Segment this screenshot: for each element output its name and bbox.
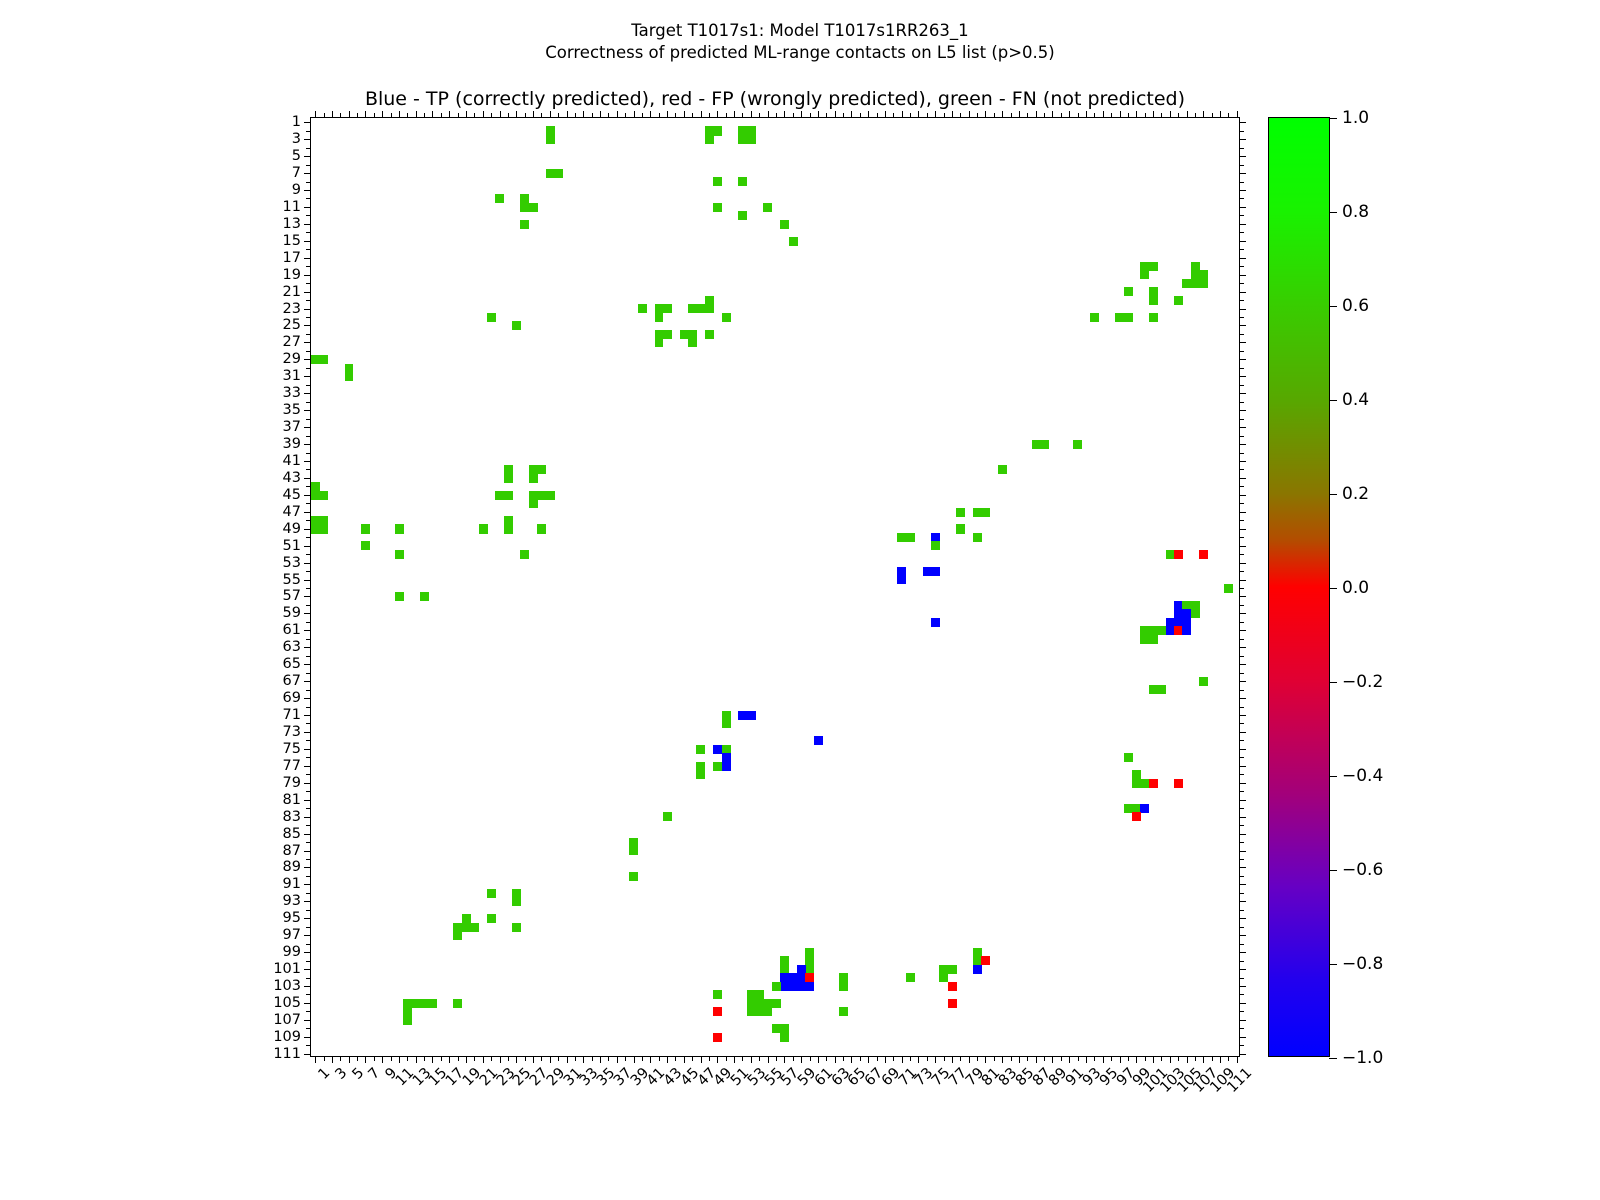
- x-tick-top: [818, 111, 819, 118]
- y-tick-right: [1239, 639, 1244, 640]
- x-tick-bottom: [357, 1056, 358, 1061]
- legend-subtitle: Blue - TP (correctly predicted), red - F…: [310, 88, 1240, 110]
- x-tick-bottom: [675, 1056, 676, 1061]
- y-tick-right: [1239, 453, 1244, 454]
- y-tick-right: [1239, 283, 1244, 284]
- y-tick: [306, 571, 311, 572]
- contact-cell: [789, 237, 798, 246]
- y-tick-right: [1239, 664, 1246, 665]
- y-tick: [306, 198, 311, 199]
- x-tick-top: [550, 111, 551, 118]
- y-tick: [304, 309, 311, 310]
- y-tick-label: 41: [283, 453, 301, 469]
- y-tick: [304, 1054, 311, 1055]
- y-tick-label: 29: [283, 351, 301, 367]
- x-tick-label: 3: [332, 1065, 350, 1083]
- y-tick-label: 65: [283, 656, 301, 672]
- x-tick-top: [1019, 111, 1020, 118]
- contact-cell: [546, 135, 555, 144]
- x-tick-bottom: [776, 1056, 777, 1061]
- x-tick-label: 1: [316, 1065, 334, 1083]
- x-tick-bottom: [952, 1056, 953, 1063]
- y-tick-right: [1239, 783, 1246, 784]
- contact-cell: [420, 592, 429, 601]
- y-tick-right: [1239, 300, 1244, 301]
- y-tick: [306, 351, 311, 352]
- x-tick-top: [1128, 113, 1129, 118]
- y-tick-label: 75: [283, 741, 301, 757]
- y-tick-right: [1239, 817, 1246, 818]
- x-tick-top: [960, 113, 961, 118]
- contact-cell: [453, 931, 462, 940]
- contact-cell: [1174, 550, 1183, 559]
- x-tick-top: [625, 113, 626, 118]
- y-tick-label: 59: [283, 605, 301, 621]
- y-tick: [306, 994, 311, 995]
- y-tick-label: 69: [283, 690, 301, 706]
- y-tick-right: [1239, 512, 1246, 513]
- y-tick-right: [1239, 148, 1244, 149]
- y-tick-right: [1239, 317, 1244, 318]
- y-tick: [306, 622, 311, 623]
- y-tick-label: 11: [283, 199, 301, 215]
- x-tick-top: [810, 113, 811, 118]
- y-tick: [304, 292, 311, 293]
- x-tick-top: [1002, 111, 1003, 118]
- x-tick-top: [1187, 111, 1188, 118]
- y-tick-right: [1239, 673, 1244, 674]
- x-tick-bottom: [1027, 1056, 1028, 1061]
- x-tick-top: [751, 111, 752, 118]
- y-tick-right: [1239, 757, 1244, 758]
- x-tick-bottom: [449, 1056, 450, 1063]
- y-tick-right: [1239, 715, 1246, 716]
- colorbar-tick: [1329, 400, 1337, 401]
- y-tick: [304, 867, 311, 868]
- x-tick-bottom: [1195, 1056, 1196, 1061]
- contact-cell: [1157, 685, 1166, 694]
- x-tick-top: [985, 111, 986, 118]
- x-tick-top: [1027, 113, 1028, 118]
- x-tick-bottom: [717, 1056, 718, 1063]
- y-tick-right: [1239, 707, 1244, 708]
- y-tick-right: [1239, 647, 1246, 648]
- x-tick-bottom: [575, 1056, 576, 1061]
- y-tick-right: [1239, 851, 1246, 852]
- contact-cell: [705, 304, 714, 313]
- y-tick-right: [1239, 774, 1244, 775]
- contact-cell: [495, 194, 504, 203]
- contact-cell: [705, 296, 714, 305]
- y-tick-label: 111: [273, 1046, 301, 1062]
- y-tick-right: [1239, 198, 1244, 199]
- contact-cell: [805, 982, 814, 991]
- y-tick: [306, 605, 311, 606]
- x-tick-label: 5: [349, 1065, 367, 1083]
- contact-cell: [395, 550, 404, 559]
- x-tick-bottom: [701, 1056, 702, 1063]
- y-tick: [306, 402, 311, 403]
- y-tick-right: [1239, 1003, 1246, 1004]
- colorbar-tick-label: −0.6: [1342, 860, 1383, 880]
- x-tick-bottom: [1128, 1056, 1129, 1061]
- x-tick-bottom: [994, 1056, 995, 1061]
- y-tick: [304, 478, 311, 479]
- x-tick-top: [567, 111, 568, 118]
- contact-cell: [1149, 262, 1158, 271]
- contact-cell: [512, 923, 521, 932]
- contact-cell: [713, 1033, 722, 1042]
- contact-cell: [897, 575, 906, 584]
- x-tick-top: [382, 111, 383, 118]
- x-tick-top: [709, 113, 710, 118]
- contact-cell: [1124, 753, 1133, 762]
- y-tick-right: [1239, 893, 1244, 894]
- y-tick-label: 81: [283, 792, 301, 808]
- y-tick-right: [1239, 1054, 1246, 1055]
- y-tick-label: 9: [292, 182, 301, 198]
- x-tick-top: [1069, 111, 1070, 118]
- y-tick-right: [1239, 427, 1246, 428]
- y-tick: [304, 173, 311, 174]
- y-tick: [306, 842, 311, 843]
- x-tick-top: [608, 113, 609, 118]
- x-tick-bottom: [533, 1056, 534, 1063]
- x-tick-top: [600, 111, 601, 118]
- y-tick: [304, 749, 311, 750]
- x-tick-top: [759, 113, 760, 118]
- y-tick-right: [1239, 740, 1244, 741]
- contact-cell: [713, 1007, 722, 1016]
- y-tick: [304, 884, 311, 885]
- x-tick-bottom: [868, 1056, 869, 1063]
- y-tick-right: [1239, 190, 1246, 191]
- contact-cell: [1174, 296, 1183, 305]
- x-tick-top: [1237, 111, 1238, 118]
- y-tick-right: [1239, 419, 1244, 420]
- y-tick-right: [1239, 596, 1246, 597]
- contact-cell: [453, 999, 462, 1008]
- y-tick-label: 25: [283, 317, 301, 333]
- x-tick-top: [793, 113, 794, 118]
- contact-cell: [479, 524, 488, 533]
- contact-cell: [931, 541, 940, 550]
- x-tick-top: [734, 111, 735, 118]
- x-tick-bottom: [927, 1056, 928, 1061]
- contact-cell: [1224, 584, 1233, 593]
- y-tick-label: 103: [273, 978, 301, 994]
- y-tick: [304, 935, 311, 936]
- colorbar-tick-label: 0.4: [1342, 390, 1369, 410]
- contact-cell: [1191, 609, 1200, 618]
- contact-map-figure: Target T1017s1: Model T1017s1RR263_1 Cor…: [0, 0, 1600, 1200]
- contact-cell: [713, 203, 722, 212]
- y-tick-right: [1239, 122, 1246, 123]
- contact-cell: [763, 203, 772, 212]
- y-tick: [304, 952, 311, 953]
- contact-cell: [713, 177, 722, 186]
- x-tick-bottom: [860, 1056, 861, 1061]
- y-tick: [304, 410, 311, 411]
- x-tick-bottom: [751, 1056, 752, 1063]
- y-tick: [306, 486, 311, 487]
- contact-cell: [520, 550, 529, 559]
- y-tick: [304, 224, 311, 225]
- contact-cell: [629, 872, 638, 881]
- x-tick-bottom: [349, 1056, 350, 1063]
- contact-cell: [428, 999, 437, 1008]
- y-tick: [306, 1011, 311, 1012]
- y-tick-right: [1239, 410, 1246, 411]
- y-tick: [306, 469, 311, 470]
- contact-cell: [1124, 313, 1133, 322]
- y-tick-right: [1239, 461, 1246, 462]
- x-tick-bottom: [851, 1056, 852, 1063]
- y-tick: [304, 258, 311, 259]
- y-tick-right: [1239, 469, 1244, 470]
- x-tick-bottom: [977, 1056, 978, 1061]
- contact-cell: [1040, 440, 1049, 449]
- x-tick-top: [1220, 111, 1221, 118]
- x-tick-top: [742, 113, 743, 118]
- y-tick-right: [1239, 537, 1244, 538]
- x-tick-bottom: [1086, 1056, 1087, 1063]
- contact-cell: [512, 897, 521, 906]
- y-tick: [304, 241, 311, 242]
- x-tick-top: [1086, 111, 1087, 118]
- contact-cell: [973, 965, 982, 974]
- y-tick-right: [1239, 563, 1246, 564]
- contact-cell: [956, 508, 965, 517]
- figure-title: Target T1017s1: Model T1017s1RR263_1 Cor…: [0, 20, 1600, 64]
- x-tick-top: [617, 111, 618, 118]
- y-tick-right: [1239, 520, 1244, 521]
- y-tick: [304, 512, 311, 513]
- x-tick-top: [449, 111, 450, 118]
- y-tick-label: 21: [283, 284, 301, 300]
- y-tick-right: [1239, 207, 1246, 208]
- x-tick-top: [583, 111, 584, 118]
- contact-cell: [713, 126, 722, 135]
- x-tick-bottom: [1111, 1056, 1112, 1061]
- y-tick: [306, 825, 311, 826]
- y-tick-right: [1239, 825, 1244, 826]
- y-tick: [304, 918, 311, 919]
- x-tick-bottom: [399, 1056, 400, 1063]
- y-tick: [306, 537, 311, 538]
- y-tick-right: [1239, 275, 1246, 276]
- contact-cell: [738, 177, 747, 186]
- x-tick-bottom: [416, 1056, 417, 1063]
- y-tick: [304, 1003, 311, 1004]
- y-tick: [306, 978, 311, 979]
- y-tick: [304, 580, 311, 581]
- contact-cell: [973, 533, 982, 542]
- y-tick-label: 107: [273, 1012, 301, 1028]
- y-tick-label: 89: [283, 859, 301, 875]
- y-tick: [304, 630, 311, 631]
- contact-cell: [906, 533, 915, 542]
- contact-cell: [931, 618, 940, 627]
- contact-cell: [738, 211, 747, 220]
- x-tick-bottom: [726, 1056, 727, 1061]
- y-tick-right: [1239, 884, 1246, 885]
- x-tick-top: [868, 111, 869, 118]
- contact-cell: [1182, 626, 1191, 635]
- y-tick: [304, 715, 311, 716]
- x-tick-top: [533, 111, 534, 118]
- x-tick-label: 7: [366, 1065, 384, 1083]
- x-tick-top: [340, 113, 341, 118]
- x-tick-bottom: [1019, 1056, 1020, 1063]
- x-tick-bottom: [608, 1056, 609, 1061]
- y-tick: [306, 656, 311, 657]
- contact-cell: [537, 465, 546, 474]
- x-tick-bottom: [1212, 1056, 1213, 1061]
- y-tick: [304, 613, 311, 614]
- colorbar-tick: [1329, 964, 1337, 965]
- y-tick-right: [1239, 656, 1244, 657]
- contact-cell: [780, 220, 789, 229]
- contact-cell: [998, 465, 1007, 474]
- y-tick: [306, 317, 311, 318]
- x-tick-bottom: [600, 1056, 601, 1063]
- x-tick-bottom: [826, 1056, 827, 1061]
- y-tick-label: 61: [283, 622, 301, 638]
- y-tick: [304, 563, 311, 564]
- y-tick: [306, 723, 311, 724]
- y-tick-label: 71: [283, 707, 301, 723]
- y-tick-right: [1239, 554, 1244, 555]
- contact-cell: [705, 135, 714, 144]
- contact-cell: [546, 491, 555, 500]
- y-tick-right: [1239, 368, 1244, 369]
- x-tick-top: [1178, 113, 1179, 118]
- x-tick-bottom: [525, 1056, 526, 1061]
- x-tick-bottom: [759, 1056, 760, 1061]
- contact-cell: [512, 321, 521, 330]
- y-tick-right: [1239, 791, 1244, 792]
- y-tick: [306, 961, 311, 962]
- x-tick-bottom: [1153, 1056, 1154, 1063]
- contact-cell: [1073, 440, 1082, 449]
- contact-map-cells: [311, 118, 1239, 1056]
- x-tick-bottom: [969, 1056, 970, 1063]
- y-tick-right: [1239, 605, 1244, 606]
- y-tick-right: [1239, 571, 1244, 572]
- contact-cell: [1199, 550, 1208, 559]
- y-tick: [304, 986, 311, 987]
- y-tick-right: [1239, 241, 1246, 242]
- x-tick-top: [634, 111, 635, 118]
- x-tick-bottom: [960, 1056, 961, 1061]
- colorbar-tick: [1329, 1058, 1337, 1059]
- y-tick-right: [1239, 495, 1246, 496]
- x-tick-bottom: [835, 1056, 836, 1063]
- y-tick: [306, 893, 311, 894]
- y-tick-right: [1239, 944, 1244, 945]
- y-tick: [304, 122, 311, 123]
- x-tick-top: [349, 111, 350, 118]
- x-tick-bottom: [1061, 1056, 1062, 1061]
- y-tick: [306, 419, 311, 420]
- x-tick-top: [642, 113, 643, 118]
- x-tick-top: [491, 113, 492, 118]
- x-tick-bottom: [617, 1056, 618, 1063]
- y-tick: [306, 131, 311, 132]
- contact-cell: [839, 982, 848, 991]
- y-tick-label: 55: [283, 572, 301, 588]
- y-tick-right: [1239, 622, 1244, 623]
- y-tick-right: [1239, 249, 1244, 250]
- y-tick-right: [1239, 224, 1246, 225]
- x-tick-top: [357, 113, 358, 118]
- colorbar-tick-label: 0.8: [1342, 202, 1369, 222]
- x-tick-bottom: [332, 1056, 333, 1063]
- x-tick-top: [466, 111, 467, 118]
- y-tick: [304, 190, 311, 191]
- x-tick-bottom: [650, 1056, 651, 1063]
- y-tick-right: [1239, 749, 1246, 750]
- y-tick-label: 7: [292, 165, 301, 181]
- x-tick-top: [324, 113, 325, 118]
- contact-cell: [956, 524, 965, 533]
- y-tick-right: [1239, 681, 1246, 682]
- y-tick-right: [1239, 215, 1244, 216]
- y-tick-right: [1239, 1011, 1244, 1012]
- y-tick: [306, 876, 311, 877]
- y-tick: [306, 927, 311, 928]
- contact-cell: [1149, 635, 1158, 644]
- y-tick-label: 43: [283, 470, 301, 486]
- y-tick-right: [1239, 994, 1244, 995]
- y-tick-right: [1239, 131, 1244, 132]
- contact-cell: [504, 524, 513, 533]
- contact-cell: [839, 1007, 848, 1016]
- x-tick-bottom: [1011, 1056, 1012, 1061]
- x-tick-bottom: [1036, 1056, 1037, 1063]
- x-tick-bottom: [885, 1056, 886, 1063]
- x-tick-top: [1145, 113, 1146, 118]
- x-tick-top: [541, 113, 542, 118]
- colorbar: 1.00.80.60.40.20.0−0.2−0.4−0.6−0.8−1.0: [1268, 117, 1330, 1057]
- contact-cell: [722, 762, 731, 771]
- x-tick-top: [1036, 111, 1037, 118]
- x-tick-top: [315, 111, 316, 118]
- colorbar-tick: [1329, 870, 1337, 871]
- y-tick: [306, 215, 311, 216]
- y-tick-right: [1239, 1045, 1244, 1046]
- y-tick: [306, 520, 311, 521]
- colorbar-tick-label: −0.4: [1342, 766, 1383, 786]
- y-tick: [304, 461, 311, 462]
- contact-cell: [906, 973, 915, 982]
- x-tick-bottom: [1161, 1056, 1162, 1061]
- x-tick-bottom: [784, 1056, 785, 1063]
- y-tick-right: [1239, 309, 1246, 310]
- contact-cell: [529, 474, 538, 483]
- x-tick-bottom: [1002, 1056, 1003, 1063]
- y-tick-label: 39: [283, 436, 301, 452]
- contact-cell: [948, 965, 957, 974]
- colorbar-tick: [1329, 682, 1337, 683]
- x-tick-bottom: [944, 1056, 945, 1061]
- y-tick-label: 79: [283, 775, 301, 791]
- y-tick: [304, 139, 311, 140]
- x-tick-top: [508, 113, 509, 118]
- y-tick: [306, 639, 311, 640]
- y-tick-right: [1239, 952, 1246, 953]
